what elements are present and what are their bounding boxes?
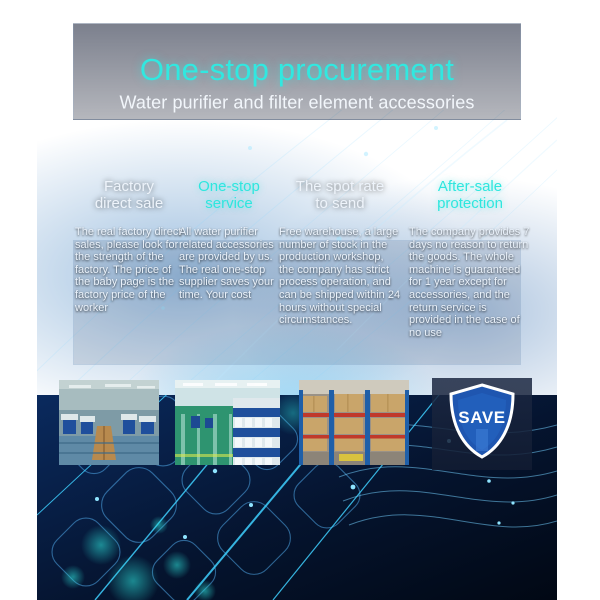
factory-assembly-line-photo[interactable]: [59, 380, 159, 465]
save-badge[interactable]: SAVE: [432, 378, 532, 470]
feature-column-spot-rate-to-send: The spot rate to send Free warehouse, a …: [279, 178, 401, 327]
feature-body: The real factory direct sales, please lo…: [75, 226, 183, 314]
feature-heading: The spot rate to send: [279, 178, 401, 212]
feature-heading: One-stop service: [179, 178, 279, 212]
feature-body: Free warehouse, a large number of stock …: [279, 226, 401, 327]
page-title: One-stop procurement: [74, 52, 520, 88]
feature-column-factory-direct-sale: Factory direct sale The real factory dir…: [75, 178, 183, 314]
header-panel: One-stop procurement Water purifier and …: [73, 23, 521, 120]
feature-columns: Factory direct sale The real factory dir…: [37, 178, 557, 378]
feature-heading: Factory direct sale: [75, 178, 183, 212]
feature-heading: After-sale protection: [409, 178, 531, 212]
badge-label: SAVE: [432, 408, 532, 428]
pallet-racking-warehouse-photo[interactable]: [299, 380, 409, 465]
page-subtitle: Water purifier and filter element access…: [74, 93, 520, 114]
screenshot-root: One-stop procurement Water purifier and …: [0, 0, 600, 600]
promotional-banner: One-stop procurement Water purifier and …: [37, 0, 557, 600]
feature-body: The company provides 7 days no reason to…: [409, 226, 531, 339]
warehouse-production-floor-photo[interactable]: [175, 380, 280, 465]
feature-column-one-stop-service: One-stop service All water purifier rela…: [179, 178, 279, 302]
feature-column-after-sale-protection: After-sale protection The company provid…: [409, 178, 531, 339]
feature-body: All water purifier related accessories a…: [179, 226, 279, 302]
